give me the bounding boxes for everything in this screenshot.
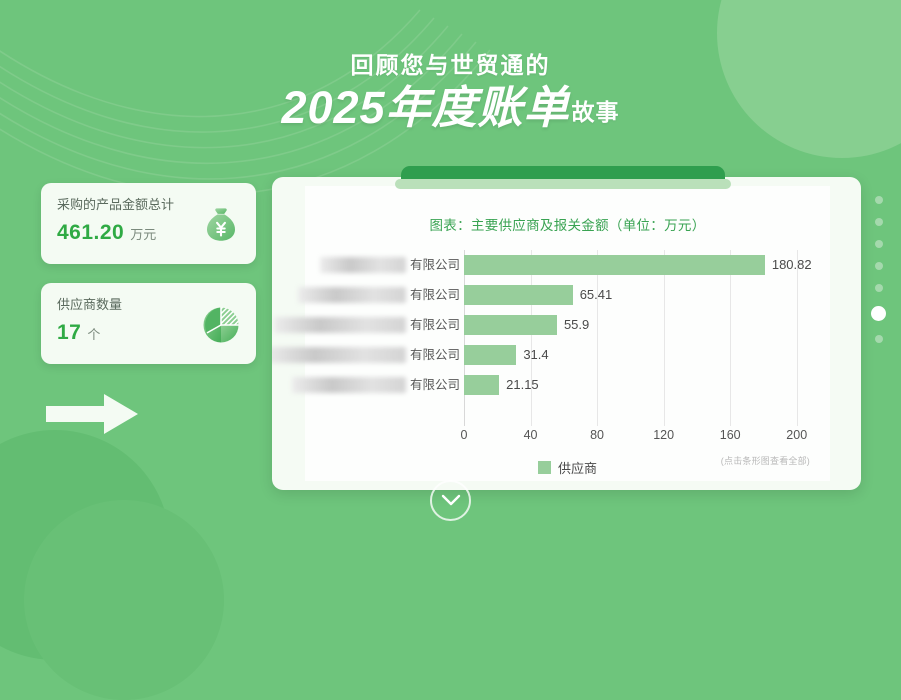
chart-bar-track: 21.15: [464, 370, 830, 400]
axis-tick: 40: [524, 428, 538, 442]
redacted-company-name: [298, 287, 406, 303]
pager-dot-2[interactable]: [875, 218, 883, 226]
chart-bar[interactable]: [464, 255, 765, 275]
stat-value-row: 461.20 万元: [57, 221, 174, 245]
pager-dot-5[interactable]: [875, 284, 883, 292]
chevron-down-icon[interactable]: [430, 480, 471, 521]
stat-value: 461.20: [57, 221, 124, 245]
redacted-company-name: [320, 257, 406, 273]
chart-bar[interactable]: [464, 315, 557, 335]
chart-bar-row[interactable]: 有限公司 21.15: [305, 370, 830, 400]
chart-bar-row[interactable]: 有限公司 31.4: [305, 340, 830, 370]
chart-bar-row[interactable]: 有限公司 55.9: [305, 310, 830, 340]
pager-dot-6-active[interactable]: [871, 306, 886, 321]
axis-tick: 160: [720, 428, 741, 442]
chart-hint-note: (点击条形图查看全部): [721, 454, 810, 467]
legend-label: 供应商: [558, 458, 597, 477]
chart-bar-value: 21.15: [499, 375, 539, 395]
axis-tick: 120: [653, 428, 674, 442]
pager-dot-7[interactable]: [875, 335, 883, 343]
chart-bar-rows: 有限公司 180.82 有限公司 65.41: [305, 250, 830, 400]
chart-title: 图表：主要供应商及报关金额（单位：万元）: [305, 214, 830, 234]
chart-canvas[interactable]: 图表：主要供应商及报关金额（单位：万元） 有限公司: [305, 186, 830, 481]
pager-dot-3[interactable]: [875, 240, 883, 248]
stat-unit: 万元: [130, 224, 156, 243]
chart-plot-area[interactable]: 有限公司 180.82 有限公司 65.41: [305, 250, 830, 426]
stat-card-total-amount[interactable]: 采购的产品金额总计 461.20 万元: [41, 183, 256, 264]
decor-circle-bottom-left: [0, 430, 170, 660]
chart-bar-track: 55.9: [464, 310, 830, 340]
chart-x-axis: 0 40 80 120 160 200: [464, 428, 830, 450]
chart-bar-value: 31.4: [516, 345, 548, 365]
panel-tab-accent-light: [395, 179, 731, 189]
chart-bar-value: 180.82: [765, 255, 812, 275]
title-line-2: 2025年度账单 故事: [0, 85, 901, 130]
chart-category-suffix: 有限公司: [408, 348, 460, 362]
arrow-right-icon[interactable]: [46, 392, 138, 441]
decor-circle-bottom-left-2: [24, 500, 224, 700]
chart-category-label: 有限公司: [305, 256, 464, 274]
pager-dot-1[interactable]: [875, 196, 883, 204]
stat-text-group: 采购的产品金额总计 461.20 万元: [57, 195, 174, 264]
chart-category-suffix: 有限公司: [408, 378, 460, 392]
stat-label: 供应商数量: [57, 295, 122, 315]
title-year-headline: 2025年度账单: [281, 85, 569, 130]
stat-unit: 个: [87, 324, 100, 343]
chart-bar[interactable]: [464, 345, 516, 365]
stat-text-group: 供应商数量 17 个: [57, 295, 122, 364]
legend-swatch-icon: [538, 461, 551, 474]
redacted-company-name: [272, 347, 406, 363]
pager-dot-4[interactable]: [875, 262, 883, 270]
title-suffix: 故事: [572, 93, 620, 130]
stat-value-row: 17 个: [57, 321, 122, 345]
chart-bar-value: 55.9: [557, 315, 589, 335]
chart-panel[interactable]: 图表：主要供应商及报关金额（单位：万元） 有限公司: [272, 177, 861, 490]
money-bag-icon: [200, 204, 242, 246]
chart-bar-row[interactable]: 有限公司 180.82: [305, 250, 830, 280]
page-title: 回顾您与世贸通的 2025年度账单 故事: [0, 52, 901, 130]
chart-category-suffix: 有限公司: [408, 318, 460, 332]
chart-bar-track: 31.4: [464, 340, 830, 370]
chart-bar[interactable]: [464, 375, 499, 395]
redacted-company-name: [292, 377, 406, 393]
chart-category-label: 有限公司: [305, 286, 464, 304]
chart-category-label: 有限公司: [305, 346, 464, 364]
stat-card-supplier-count[interactable]: 供应商数量 17 个: [41, 283, 256, 364]
chart-category-label: 有限公司: [305, 316, 464, 334]
pagination-dots[interactable]: [871, 196, 886, 343]
chart-bar-value: 65.41: [573, 285, 613, 305]
title-line-1: 回顾您与世贸通的: [0, 52, 901, 80]
chart-category-label: 有限公司: [305, 376, 464, 394]
chart-bar[interactable]: [464, 285, 573, 305]
chart-bar-track: 180.82: [464, 250, 830, 280]
chart-bar-track: 65.41: [464, 280, 830, 310]
axis-tick: 200: [786, 428, 807, 442]
chart-bar-row[interactable]: 有限公司 65.41: [305, 280, 830, 310]
axis-tick: 0: [461, 428, 468, 442]
pie-chart-icon: [200, 304, 242, 346]
axis-tick: 80: [590, 428, 604, 442]
chart-category-suffix: 有限公司: [408, 258, 460, 272]
stat-label: 采购的产品金额总计: [57, 195, 174, 215]
stat-value: 17: [57, 321, 81, 345]
chart-category-suffix: 有限公司: [408, 288, 460, 302]
redacted-company-name: [274, 317, 406, 333]
